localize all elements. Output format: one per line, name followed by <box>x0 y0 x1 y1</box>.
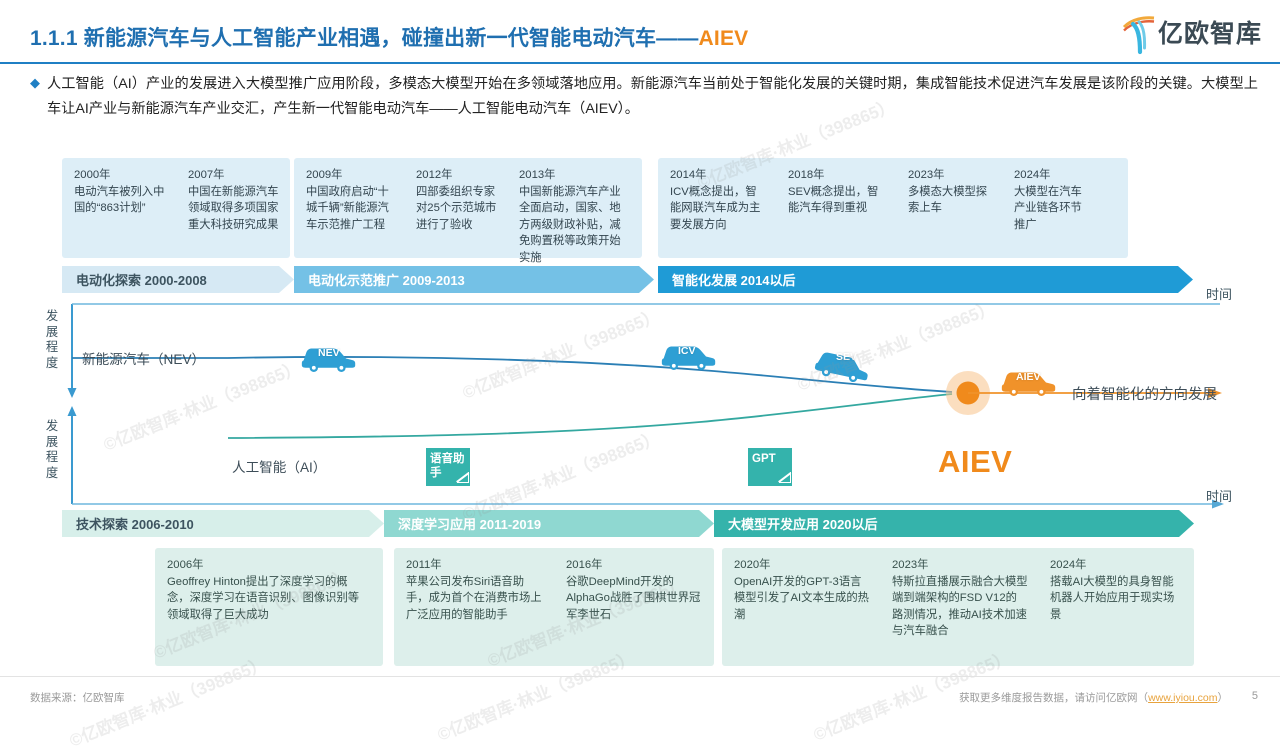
card-year: 2016年 <box>566 557 704 574</box>
card-body: 中国新能源汽车产业全面启动，国家、地方两级财政补贴，减免购置税等政策开始实施 <box>519 186 621 264</box>
card-year: 2006年 <box>167 557 361 574</box>
voice-assistant-badge[interactable]: 语音助手 <box>426 448 470 488</box>
card-body: ICV概念提出，智能网联汽车成为主要发展方向 <box>670 186 760 231</box>
nev-time-axis-label: 时间 <box>1206 284 1232 303</box>
list-item: 2024年 大模型在汽车产业链各环节推广 <box>1002 167 1102 249</box>
nev-phase-3[interactable]: 智能化发展 2014以后 <box>658 266 1193 293</box>
nev-series-label: 新能源汽车（NEV） <box>82 348 205 368</box>
ai-phase-3[interactable]: 大模型开发应用 2020以后 <box>714 510 1194 537</box>
card-body: 大模型在汽车产业链各环节推广 <box>1014 186 1082 231</box>
slide-page: 1.1.1 新能源汽车与人工智能产业相遇，碰撞出新一代智能电动汽车——AIEV … <box>0 0 1280 720</box>
footer-cta-prefix: 获取更多维度报告数据，请访问亿欧网（ <box>959 692 1148 704</box>
ai-phase-1-label: 技术探索 2006-2010 <box>76 514 194 533</box>
card-body: 多模态大模型探索上车 <box>908 186 987 215</box>
ai-phase-2[interactable]: 深度学习应用 2011-2019 <box>384 510 714 537</box>
nev-phase-1-label: 电动化探索 2000-2008 <box>76 270 207 289</box>
nev-phase-1[interactable]: 电动化探索 2000-2008 <box>62 266 294 293</box>
ai-series-label: 人工智能（AI） <box>232 456 326 476</box>
gpt-badge[interactable]: GPT <box>748 448 792 488</box>
nev-card-group-3: 2014年 ICV概念提出，智能网联汽车成为主要发展方向 2018年 SEV概念… <box>658 158 1128 258</box>
list-item: 2007年 中国在新能源汽车领域取得多项国家重大科技研究成果 <box>176 167 290 249</box>
list-item: 2013年 中国新能源汽车产业全面启动，国家、地方两级财政补贴，减免购置税等政策… <box>507 167 640 249</box>
card-year: 2014年 <box>670 167 766 184</box>
card-body: 搭载AI大模型的具身智能机器人开始应用于现实场景 <box>1050 576 1174 621</box>
card-body: 电动汽车被列入中国的“863计划” <box>74 186 164 215</box>
page-title: 1.1.1 新能源汽车与人工智能产业相遇，碰撞出新一代智能电动汽车——AIEV <box>30 22 748 52</box>
icv-car-icon <box>662 346 715 370</box>
card-year: 2020年 <box>734 557 870 574</box>
brand-logo: 亿欧智库 <box>1122 14 1262 54</box>
footer-cta-link[interactable]: www.iyiou.com <box>1148 692 1217 704</box>
pencil-icon <box>457 472 469 483</box>
card-body: Geoffrey Hinton提出了深度学习的概念，深度学习在语音识别、图像识别… <box>167 576 359 621</box>
card-year: 2007年 <box>188 167 280 184</box>
list-item: 2011年 苹果公司发布Siri语音助手，成为首个在消费市场上广泛应用的智能助手 <box>394 557 554 657</box>
lead-paragraph-text: 人工智能（AI）产业的发展进入大模型推广应用阶段，多模态大模型开始在多领域落地应… <box>47 72 1258 122</box>
ai-card-group-1: 2006年 Geoffrey Hinton提出了深度学习的概念，深度学习在语音识… <box>155 548 383 666</box>
sev-car-icon <box>814 351 871 385</box>
nev-phase-2-label: 电动化示范推广 2009-2013 <box>308 270 465 289</box>
gpt-badge-underline <box>746 486 804 488</box>
card-year: 2009年 <box>306 167 394 184</box>
list-item: 2009年 中国政府启动“十城千辆”新能源汽车示范推广工程 <box>294 167 404 249</box>
ai-phase-3-label: 大模型开发应用 2020以后 <box>728 514 878 533</box>
page-title-accent: AIEV <box>699 27 749 50</box>
pencil-icon <box>779 472 791 483</box>
header-divider <box>0 62 1280 64</box>
list-item: 2018年 SEV概念提出，智能汽车得到重视 <box>776 167 896 249</box>
card-body: 谷歌DeepMind开发的AlphaGo战胜了围棋世界冠军李世石 <box>566 576 700 621</box>
list-item: 2012年 四部委组织专家对25个示范城市进行了验收 <box>404 167 507 249</box>
footer-cta-suffix: ） <box>1218 692 1229 704</box>
card-body: 四部委组织专家对25个示范城市进行了验收 <box>416 186 496 231</box>
direction-note: 向着智能化的方向发展 <box>1072 383 1217 404</box>
card-year: 2023年 <box>892 557 1028 574</box>
ai-phase-1[interactable]: 技术探索 2006-2010 <box>62 510 384 537</box>
list-item: 2020年 OpenAI开发的GPT-3语言模型引发了AI文本生成的热潮 <box>722 557 880 657</box>
nev-card-group-2: 2009年 中国政府启动“十城千辆”新能源汽车示范推广工程 2012年 四部委组… <box>294 158 642 258</box>
card-body: SEV概念提出，智能汽车得到重视 <box>788 186 878 215</box>
gpt-badge-label: GPT <box>752 452 776 466</box>
card-year: 2018年 <box>788 167 886 184</box>
page-title-main: 1.1.1 新能源汽车与人工智能产业相遇，碰撞出新一代智能电动汽车—— <box>30 27 699 50</box>
footer-source: 数据来源：亿欧智库 <box>30 690 125 705</box>
ai-card-group-2: 2011年 苹果公司发布Siri语音助手，成为首个在消费市场上广泛应用的智能助手… <box>394 548 714 666</box>
page-number: 5 <box>1252 690 1258 702</box>
nev-phase-3-label: 智能化发展 2014以后 <box>672 270 796 289</box>
diamond-bullet-icon: ◆ <box>30 72 40 122</box>
nev-car-icon <box>302 348 355 372</box>
card-year: 2011年 <box>406 557 544 574</box>
ai-phase-2-label: 深度学习应用 2011-2019 <box>398 514 541 533</box>
list-item: 2000年 电动汽车被列入中国的“863计划” <box>62 167 176 249</box>
footer-divider <box>0 676 1280 677</box>
card-body: 苹果公司发布Siri语音助手，成为首个在消费市场上广泛应用的智能助手 <box>406 576 542 621</box>
list-item: 2024年 搭载AI大模型的具身智能机器人开始应用于现实场景 <box>1038 557 1188 657</box>
nev-card-group-1: 2000年 电动汽车被列入中国的“863计划” 2007年 中国在新能源汽车领域… <box>62 158 290 258</box>
voice-badge-underline <box>424 486 482 488</box>
ai-time-axis-label: 时间 <box>1206 486 1232 505</box>
card-body: 中国在新能源汽车领域取得多项国家重大科技研究成果 <box>188 186 278 231</box>
card-year: 2024年 <box>1014 167 1092 184</box>
chart-canvas <box>0 296 1280 526</box>
card-year: 2023年 <box>908 167 992 184</box>
card-year: 2000年 <box>74 167 166 184</box>
eo-swoosh-icon <box>1122 15 1156 53</box>
card-year: 2024年 <box>1050 557 1178 574</box>
list-item: 2014年 ICV概念提出，智能网联汽车成为主要发展方向 <box>658 167 776 249</box>
list-item: 2023年 特斯拉直播展示融合大模型端到端架构的FSD V12的路测情况，推动A… <box>880 557 1038 657</box>
logo-text: 亿欧智库 <box>1158 22 1262 47</box>
card-body: OpenAI开发的GPT-3语言模型引发了AI文本生成的热潮 <box>734 576 869 621</box>
nev-phase-2[interactable]: 电动化示范推广 2009-2013 <box>294 266 654 293</box>
lead-paragraph: ◆ 人工智能（AI）产业的发展进入大模型推广应用阶段，多模态大模型开始在多领域落… <box>30 72 1258 122</box>
convergence-chart: 发展程度 发展程度 <box>0 296 1280 526</box>
list-item: 2016年 谷歌DeepMind开发的AlphaGo战胜了围棋世界冠军李世石 <box>554 557 714 657</box>
card-year: 2013年 <box>519 167 630 184</box>
ai-card-group-3: 2020年 OpenAI开发的GPT-3语言模型引发了AI文本生成的热潮 202… <box>722 548 1194 666</box>
card-body: 中国政府启动“十城千辆”新能源汽车示范推广工程 <box>306 186 389 231</box>
card-body: 特斯拉直播展示融合大模型端到端架构的FSD V12的路测情况，推动AI技术加速与… <box>892 576 1028 638</box>
list-item: 2006年 Geoffrey Hinton提出了深度学习的概念，深度学习在语音识… <box>155 557 371 657</box>
list-item: 2023年 多模态大模型探索上车 <box>896 167 1002 249</box>
aiev-headline: AIEV <box>938 444 1012 480</box>
footer-cta: 获取更多维度报告数据，请访问亿欧网（www.iyiou.com） <box>959 690 1228 705</box>
card-year: 2012年 <box>416 167 497 184</box>
